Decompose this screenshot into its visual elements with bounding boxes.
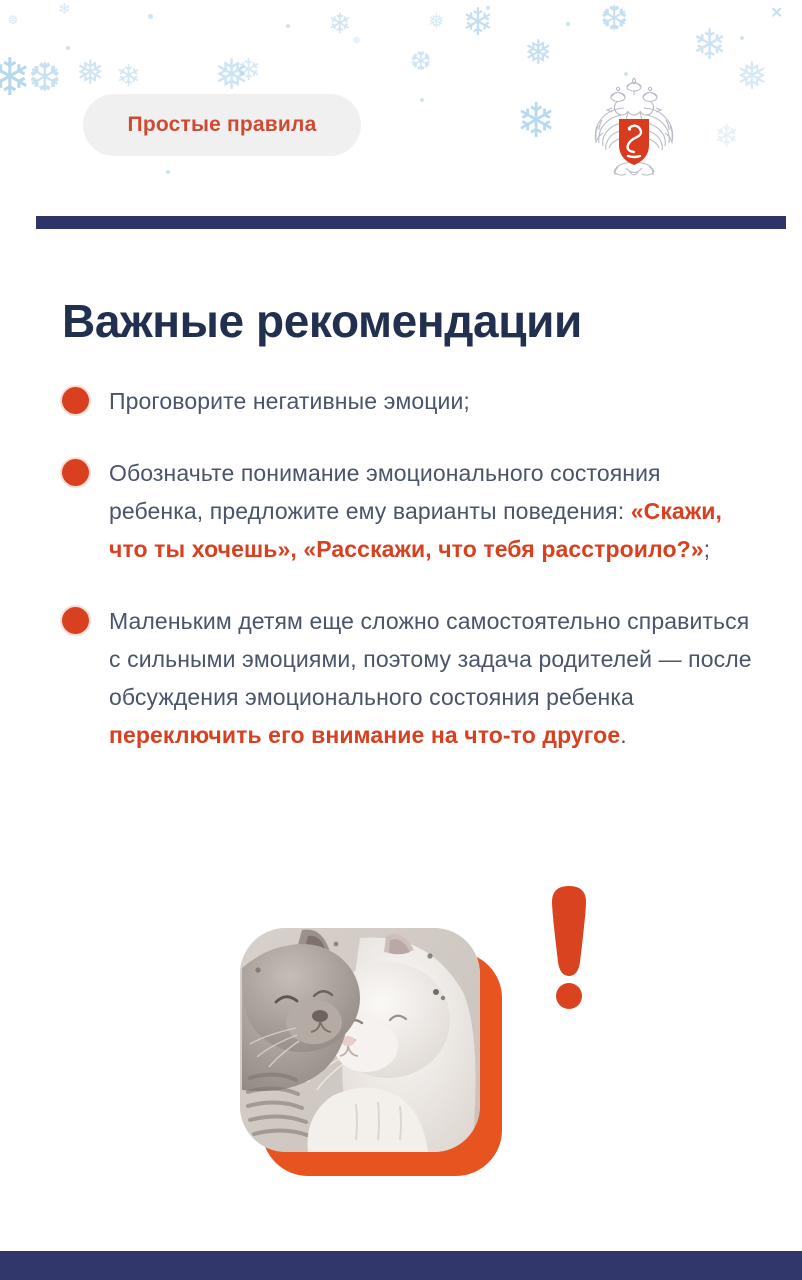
header-band: ❄ ❆ ❅ ❄ ❄ ❆ ❅ ❄ ❆ ❄ ❅ ❄ ❅ ❄ ❆ ❄ ❅ ✕ ❄ ❄ [0,0,802,216]
photo-block [240,928,502,1176]
header-divider-rule [36,216,786,229]
bullet-dot-icon [62,607,89,634]
list-item: Обозначьте понимание эмоционального сост… [62,454,752,568]
snow-dot-icon [566,22,570,26]
list-item-text: Маленьким детям еще сложно самостоятельн… [109,602,752,754]
snowflake-icon: ❆ [410,48,432,74]
snowflake-icon: ✕ [770,6,783,22]
snowflake-icon: ❄ [352,36,361,47]
simple-rules-badge-label: Простые правила [128,113,317,137]
list-item-text-tail: . [620,722,627,748]
snow-dot-icon [166,170,170,174]
snowflake-icon: ❅ [428,12,445,32]
snowflake-icon: ❅ [524,36,553,70]
bullet-dot-icon [62,387,89,414]
list-item-text-highlight: переключить его внимание на что-то друго… [109,722,620,748]
snow-dot-icon [148,14,153,19]
snowflake-icon: ❄ [236,56,261,86]
list-item-text-plain: Проговорите негативные эмоции; [109,388,470,414]
list-item-text-plain: Маленьким детям еще сложно самостоятельн… [109,608,752,710]
snow-dot-icon [66,46,70,50]
snowflake-icon: ❄ [714,122,739,152]
snowflake-icon: ❄ [516,98,556,146]
bullet-dot-icon [62,459,89,486]
footer-bar [0,1251,802,1280]
list-item-text: Обозначьте понимание эмоционального сост… [109,454,752,568]
snow-dot-icon [420,98,424,102]
snowflake-icon: ❄ [328,10,351,38]
poster-root: ❄ ❆ ❅ ❄ ❄ ❆ ❅ ❄ ❆ ❄ ❅ ❄ ❅ ❄ ❆ ❄ ❅ ✕ ❄ ❄ [0,0,802,1280]
list-item: Маленьким детям еще сложно самостоятельн… [62,602,752,754]
cats-photo [240,928,480,1152]
snowflake-icon: ❆ [8,14,18,26]
list-item-text: Проговорите негативные эмоции; [109,382,470,420]
list-item-text-plain: Обозначьте понимание эмоционального сост… [109,460,661,524]
snow-dot-icon [740,36,744,40]
snowflake-icon: ❄ [116,62,141,92]
snowflake-icon: ❄ [58,2,71,17]
page-title: Важные рекомендации [62,294,582,348]
snowflake-icon: ❄ [0,52,32,104]
snowflake-icon: ❆ [28,58,62,98]
simple-rules-badge: Простые правила [83,94,361,156]
snow-dot-icon [486,6,490,10]
snowflake-icon: ❆ [600,2,629,36]
snow-dot-icon [286,24,290,28]
list-item: Проговорите негативные эмоции; [62,382,752,420]
list-item-text-tail: ; [704,536,711,562]
recommendations-list: Проговорите негативные эмоции; Обозначьт… [62,382,752,754]
ministry-emblem-icon [588,72,680,184]
snowflake-icon: ❅ [736,58,768,96]
snowflake-icon: ❅ [76,56,105,90]
snowflake-icon: ❄ [692,24,727,66]
exclamation-mark-icon [541,884,597,1012]
